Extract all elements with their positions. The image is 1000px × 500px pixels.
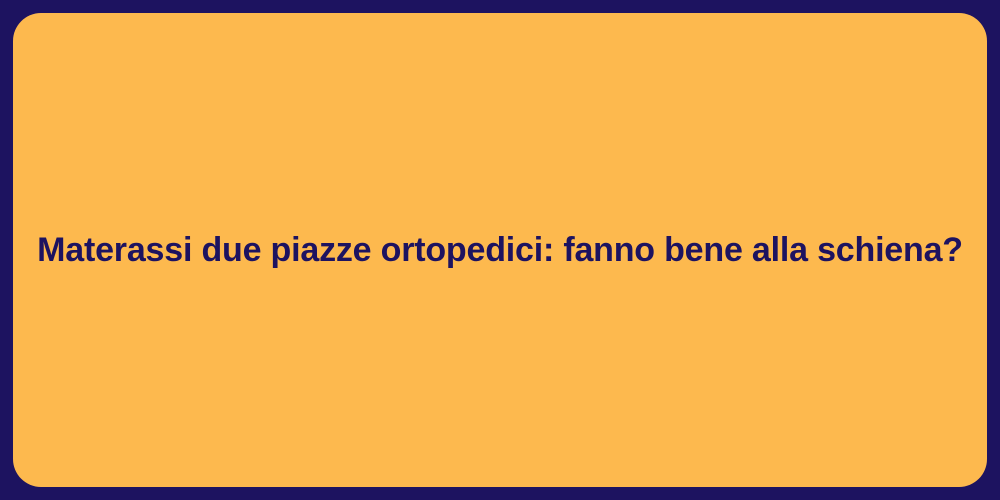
banner-frame: Materassi due piazze ortopedici: fanno b… [0, 0, 1000, 500]
banner-heading: Materassi due piazze ortopedici: fanno b… [37, 230, 963, 271]
banner-panel: Materassi due piazze ortopedici: fanno b… [13, 13, 987, 487]
